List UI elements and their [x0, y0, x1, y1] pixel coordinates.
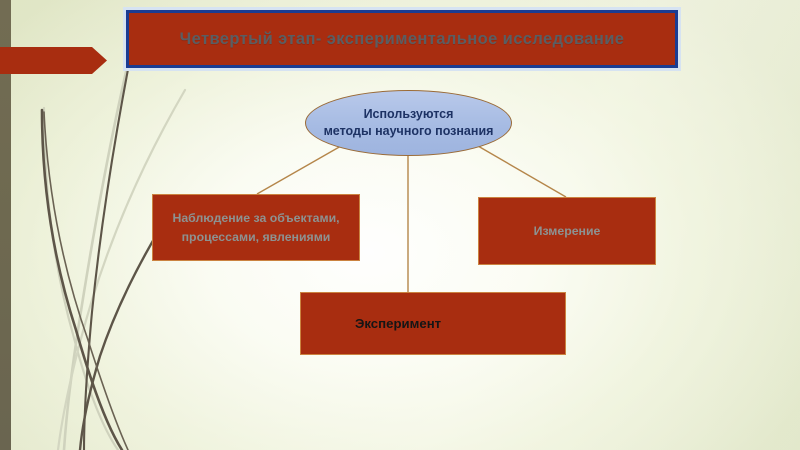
diagram-connectors — [0, 0, 800, 450]
connector-root-to-observation — [257, 146, 341, 194]
diagram-root-node[interactable]: Используются методы научного познания — [305, 90, 512, 156]
slide-canvas: Четвертый этап- экспериментальное исслед… — [0, 0, 800, 450]
diagram-node-experiment[interactable]: Эксперимент — [300, 292, 566, 355]
measurement-label: Измерение — [534, 222, 601, 240]
root-node-line-1: Используются — [364, 106, 454, 123]
observation-label-line-1: Наблюдение за объектами, — [172, 209, 339, 227]
observation-label-line-2: процессами, явлениями — [172, 228, 339, 246]
diagram-node-observation[interactable]: Наблюдение за объектами, процессами, явл… — [152, 194, 360, 261]
experiment-label: Эксперимент — [355, 314, 441, 334]
connector-root-to-measurement — [478, 146, 566, 197]
root-node-line-2: методы научного познания — [324, 123, 494, 140]
diagram-node-measurement[interactable]: Измерение — [478, 197, 656, 265]
